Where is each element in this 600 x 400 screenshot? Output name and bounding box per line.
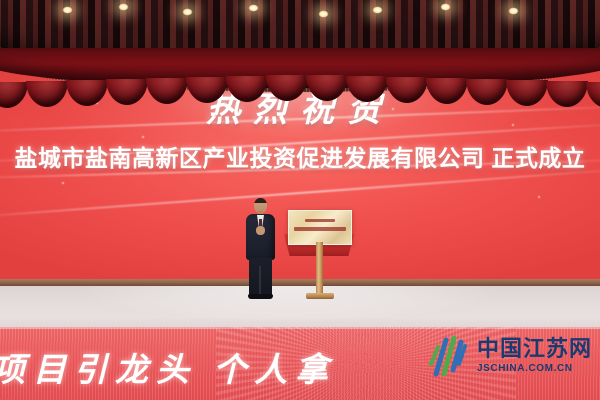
watermark-name-cn: 中国江苏网 <box>477 338 592 360</box>
ceiling-spotlight <box>318 10 329 18</box>
ceiling-spotlight <box>182 8 193 16</box>
company-plaque <box>288 210 352 245</box>
watermark: 中国江苏网 JSCHINA.COM.CN <box>429 334 592 378</box>
plaque-stand-assembly <box>288 210 352 302</box>
person-shoes <box>248 294 273 299</box>
banner-slogan-text: 项目引龙头 个人拿 <box>0 343 336 391</box>
watermark-name-en: JSCHINA.COM.CN <box>477 364 592 374</box>
watermark-text-block: 中国江苏网 JSCHINA.COM.CN <box>477 338 592 374</box>
ceiling-spotlight <box>440 3 451 11</box>
plaque-inscription-top <box>305 219 335 222</box>
ceiling-spotlight <box>62 6 73 14</box>
backdrop-sparkle <box>142 136 144 138</box>
speaker-person <box>245 198 279 300</box>
person-leg-split <box>259 266 261 296</box>
ceiling-spotlight <box>118 3 129 11</box>
photo-scene: 热烈祝贺 盐城市盐南高新区产业投资促进发展有限公司 正式成立 <box>0 0 600 400</box>
ceiling-spotlight <box>508 7 519 15</box>
backdrop-subheadline: 盐城市盐南高新区产业投资促进发展有限公司 正式成立 <box>0 139 600 173</box>
plaque-stand-base <box>306 293 334 299</box>
ceiling-spotlight <box>372 6 383 14</box>
plaque-inscription-main <box>294 227 346 231</box>
person-clasped-hands <box>256 226 265 235</box>
backdrop-sparkle <box>62 182 64 184</box>
jschina-logo-icon <box>429 334 471 378</box>
backdrop-sparkle <box>538 196 540 198</box>
ceiling-spotlight <box>248 4 259 12</box>
plaque-stand-post <box>316 242 323 294</box>
